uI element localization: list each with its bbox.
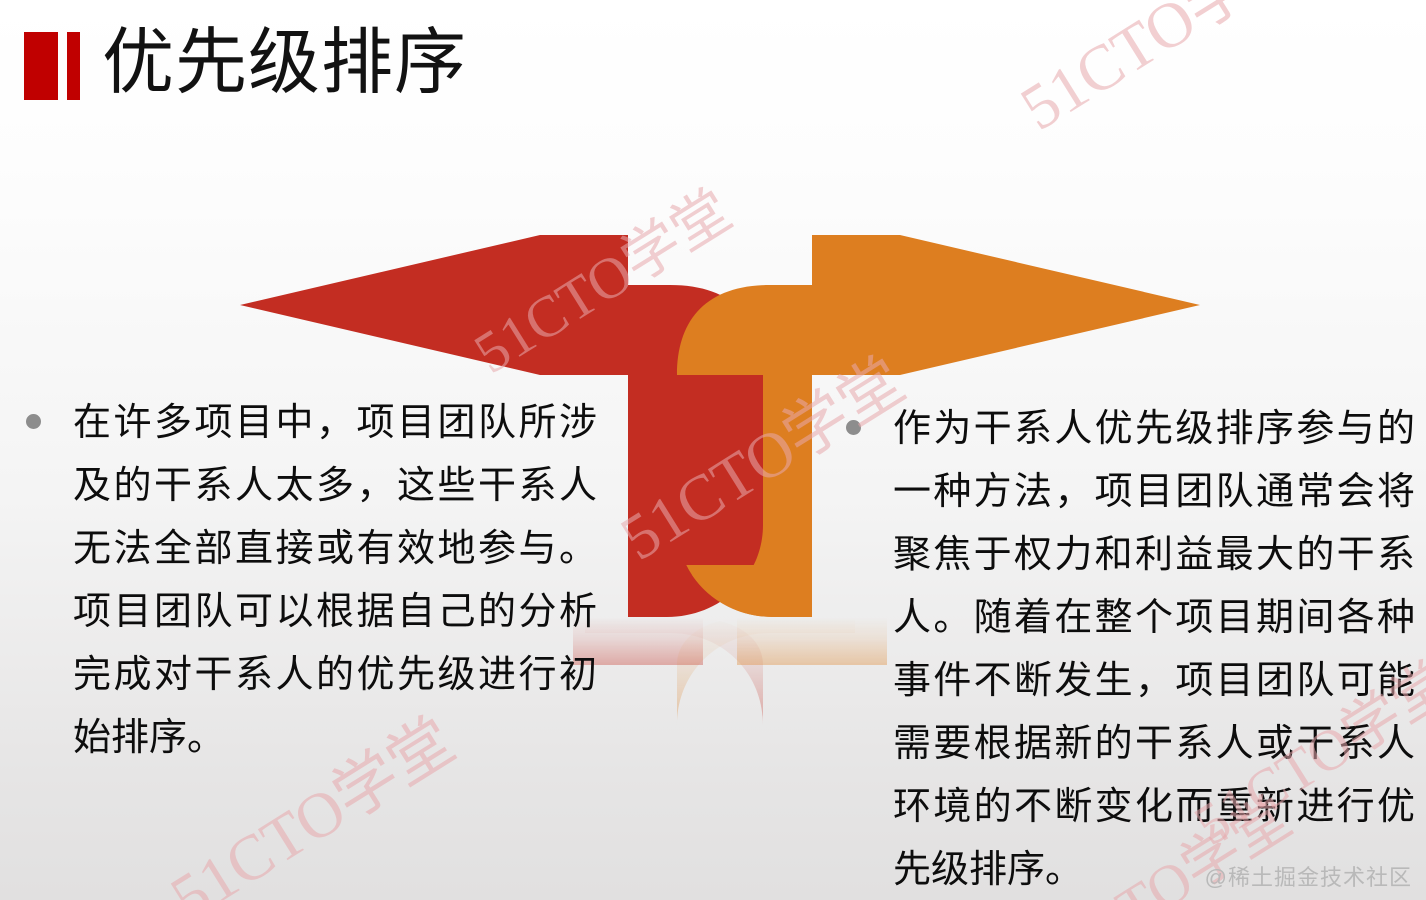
title-bars-icon: [24, 32, 80, 100]
bullet-text-right: 作为干系人优先级排序参与的一种方法，项目团队通常会将聚焦于权力和利益最大的干系人…: [893, 398, 1415, 900]
bullet-dot-icon: [26, 414, 41, 429]
bullet-text-left: 在许多项目中，项目团队所涉及的干系人太多，这些干系人无法全部直接或有效地参与。项…: [73, 392, 597, 770]
page-title: 优先级排序: [0, 18, 467, 108]
bullet-item-left: 在许多项目中，项目团队所涉及的干系人太多，这些干系人无法全部直接或有效地参与。项…: [26, 392, 616, 770]
arrow-reflection: [573, 617, 887, 725]
title-bar-narrow: [67, 32, 80, 100]
bullet-item-right: 作为干系人优先级排序参与的一种方法，项目团队通常会将聚焦于权力和利益最大的干系人…: [846, 398, 1426, 900]
page-title-text: 优先级排序: [102, 27, 467, 99]
title-bar-wide: [24, 32, 58, 100]
bullet-dot-icon: [846, 420, 861, 435]
watermark-diagonal: 51CTO学堂: [1000, 0, 1319, 148]
slide-canvas: 优先级排序: [0, 0, 1426, 900]
